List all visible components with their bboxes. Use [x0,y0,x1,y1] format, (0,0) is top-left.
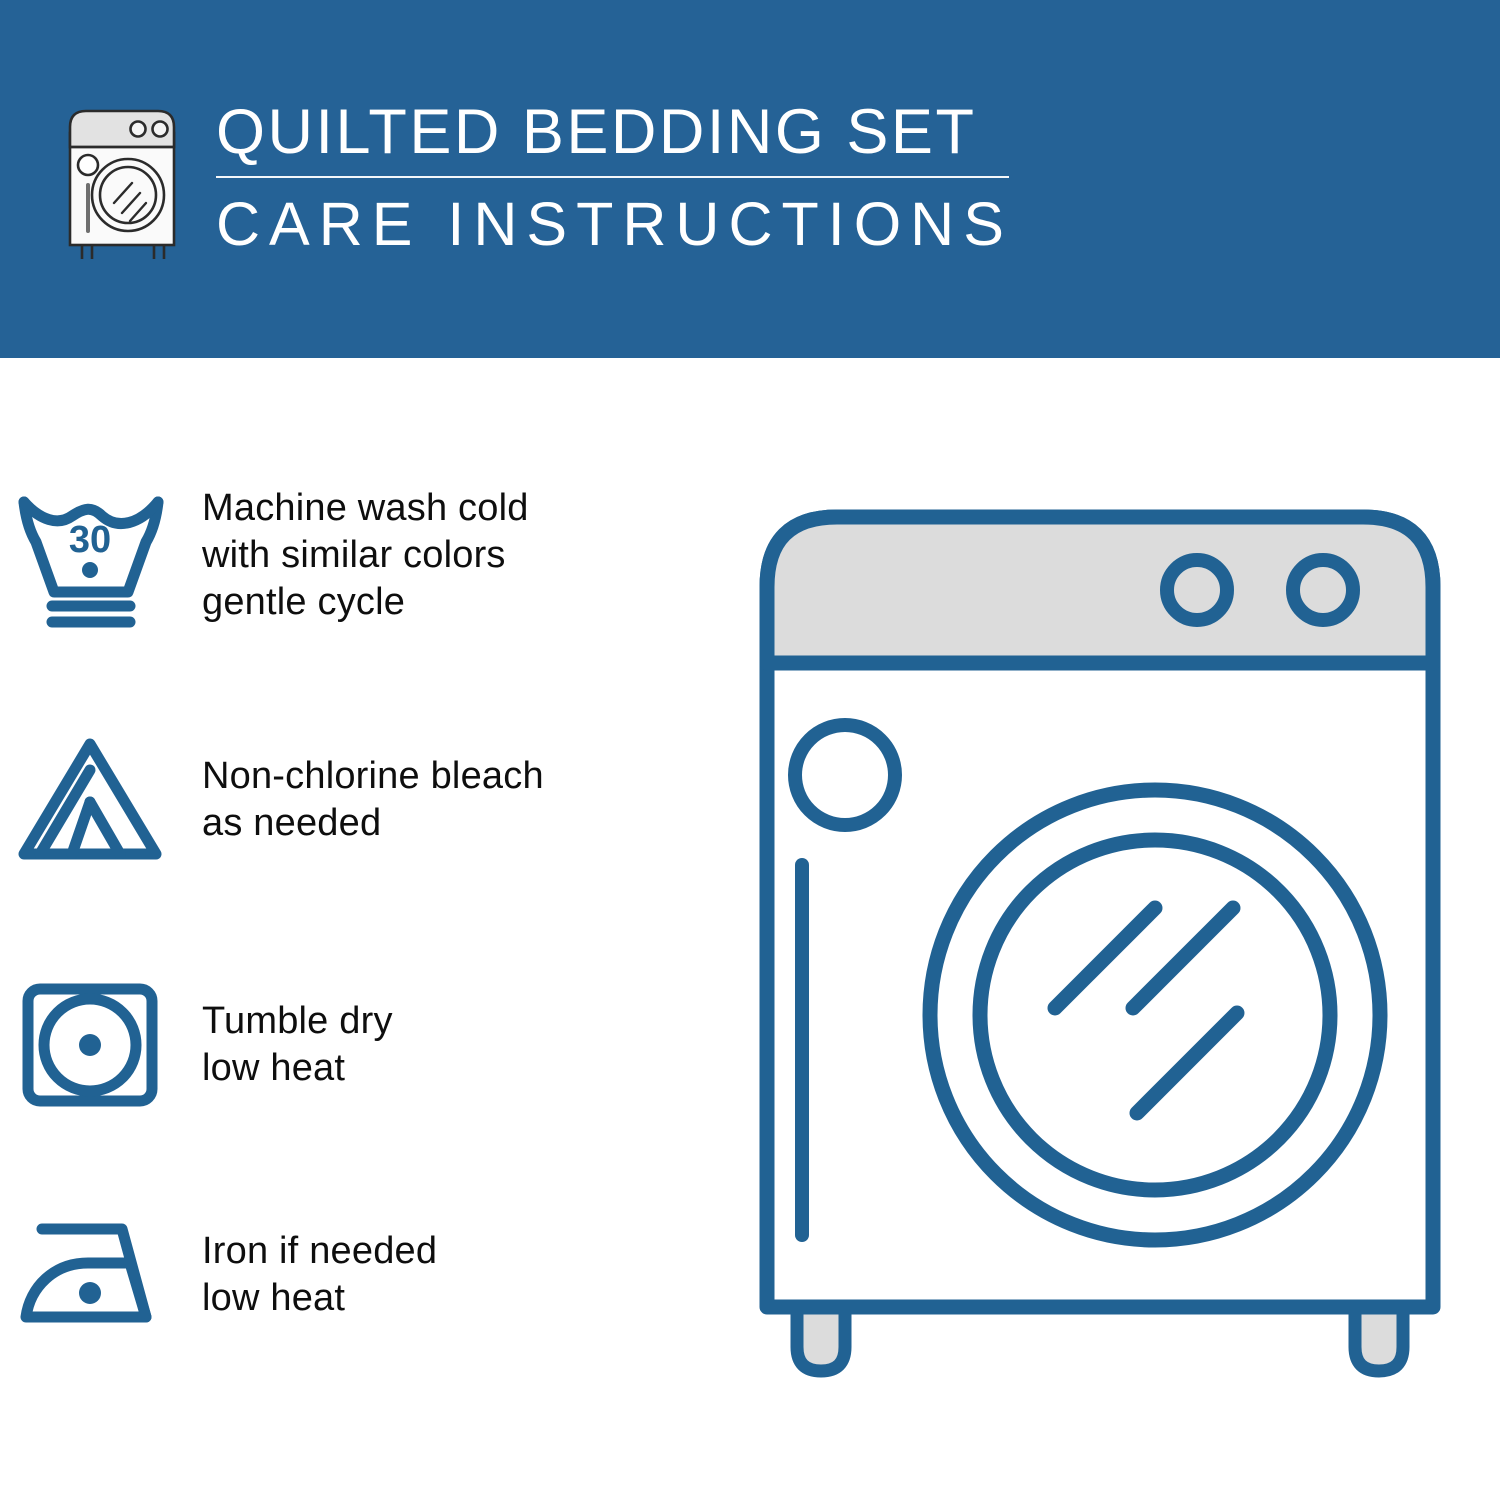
detergent-dispenser [795,725,895,825]
iron-icon [0,1205,180,1345]
care-line: low heat [202,1275,437,1322]
bleach-triangle-icon [0,730,180,870]
control-knob-right [1293,560,1353,620]
header-banner: QUILTED BEDDING SET CARE INSTRUCTIONS [0,0,1500,358]
care-row-iron: Iron if needed low heat [0,1205,740,1345]
tumble-dry-icon [0,975,180,1115]
care-line: low heat [202,1045,393,1092]
door-inner-ring [980,840,1330,1190]
washing-machine-logo-icon [62,103,188,263]
header-text-block: QUILTED BEDDING SET CARE INSTRUCTIONS [216,96,1016,261]
page-subtitle: CARE INSTRUCTIONS [216,187,1016,261]
machine-feet [797,1307,1403,1371]
wash-temperature-label: 30 [69,519,111,561]
header-divider [216,176,1009,178]
care-label-iron: Iron if needed low heat [180,1228,437,1322]
care-row-machine-wash: 30 Machine wash cold with similar colors… [0,480,740,630]
care-label-tumble-dry: Tumble dry low heat [180,998,393,1092]
care-line: Iron if needed [202,1228,437,1275]
care-label-bleach: Non-chlorine bleach as needed [180,753,544,847]
care-line: gentle cycle [202,579,529,626]
front-load-washing-machine-illustration [745,495,1455,1420]
care-line: with similar colors [202,532,529,579]
care-label-machine-wash: Machine wash cold with similar colors ge… [180,485,529,626]
care-row-bleach: Non-chlorine bleach as needed [0,730,740,870]
care-line: Machine wash cold [202,485,529,532]
page-title: QUILTED BEDDING SET [216,96,1016,168]
care-row-tumble-dry: Tumble dry low heat [0,975,740,1115]
care-line: Tumble dry [202,998,393,1045]
care-line: Non-chlorine bleach [202,753,544,800]
care-line: as needed [202,800,544,847]
control-knob-left [1167,560,1227,620]
wash-tub-30-icon: 30 [0,480,180,630]
